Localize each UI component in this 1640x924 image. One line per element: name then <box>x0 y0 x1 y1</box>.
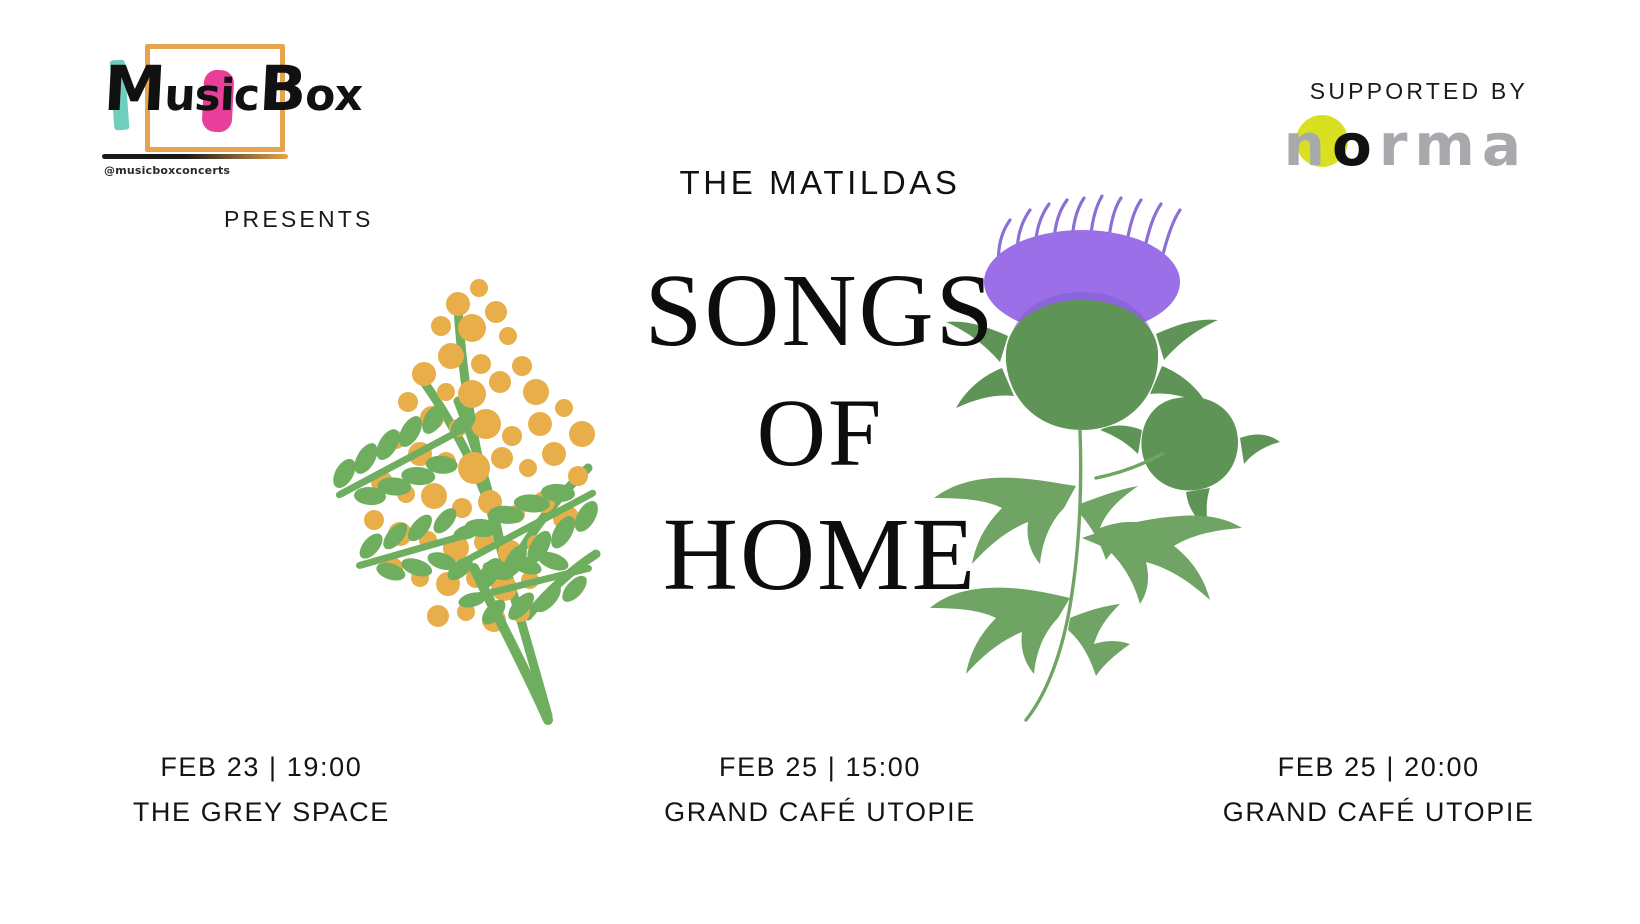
title-line-2: OF <box>0 372 1640 494</box>
musicbox-logo-block: MusicBox @musicboxconcerts PRESENTS <box>100 38 400 156</box>
poster-canvas: MusicBox @musicboxconcerts PRESENTS SUPP… <box>0 0 1640 924</box>
listings-row: FEB 23 | 19:00 THE GREY SPACE FEB 25 | 1… <box>0 752 1640 828</box>
title-line-1: SONGS <box>0 250 1640 372</box>
listing-venue: GRAND CAFÉ UTOPIE <box>1099 797 1640 828</box>
logo-underline-rule <box>102 154 288 159</box>
listing-item: FEB 25 | 15:00 GRAND CAFÉ UTOPIE <box>541 752 1100 828</box>
supported-by-label: SUPPORTED BY <box>1284 78 1528 105</box>
event-title: SONGS OF HOME <box>0 250 1640 616</box>
title-line-3: HOME <box>0 494 1640 616</box>
listing-date: FEB 25 | 20:00 <box>1099 752 1640 783</box>
listing-item: FEB 23 | 19:00 THE GREY SPACE <box>0 752 541 828</box>
norma-wordmark: norma <box>1284 119 1528 171</box>
listing-item: FEB 25 | 20:00 GRAND CAFÉ UTOPIE <box>1099 752 1640 828</box>
listing-venue: THE GREY SPACE <box>0 797 541 828</box>
listing-date: FEB 25 | 15:00 <box>541 752 1100 783</box>
supporter-block: SUPPORTED BY norma <box>1284 78 1528 171</box>
listing-venue: GRAND CAFÉ UTOPIE <box>541 797 1100 828</box>
logo-wordmark: MusicBox <box>102 52 364 125</box>
musicbox-logo-mark: MusicBox @musicboxconcerts <box>100 38 300 156</box>
norma-logo: norma <box>1284 119 1528 171</box>
listing-date: FEB 23 | 19:00 <box>0 752 541 783</box>
